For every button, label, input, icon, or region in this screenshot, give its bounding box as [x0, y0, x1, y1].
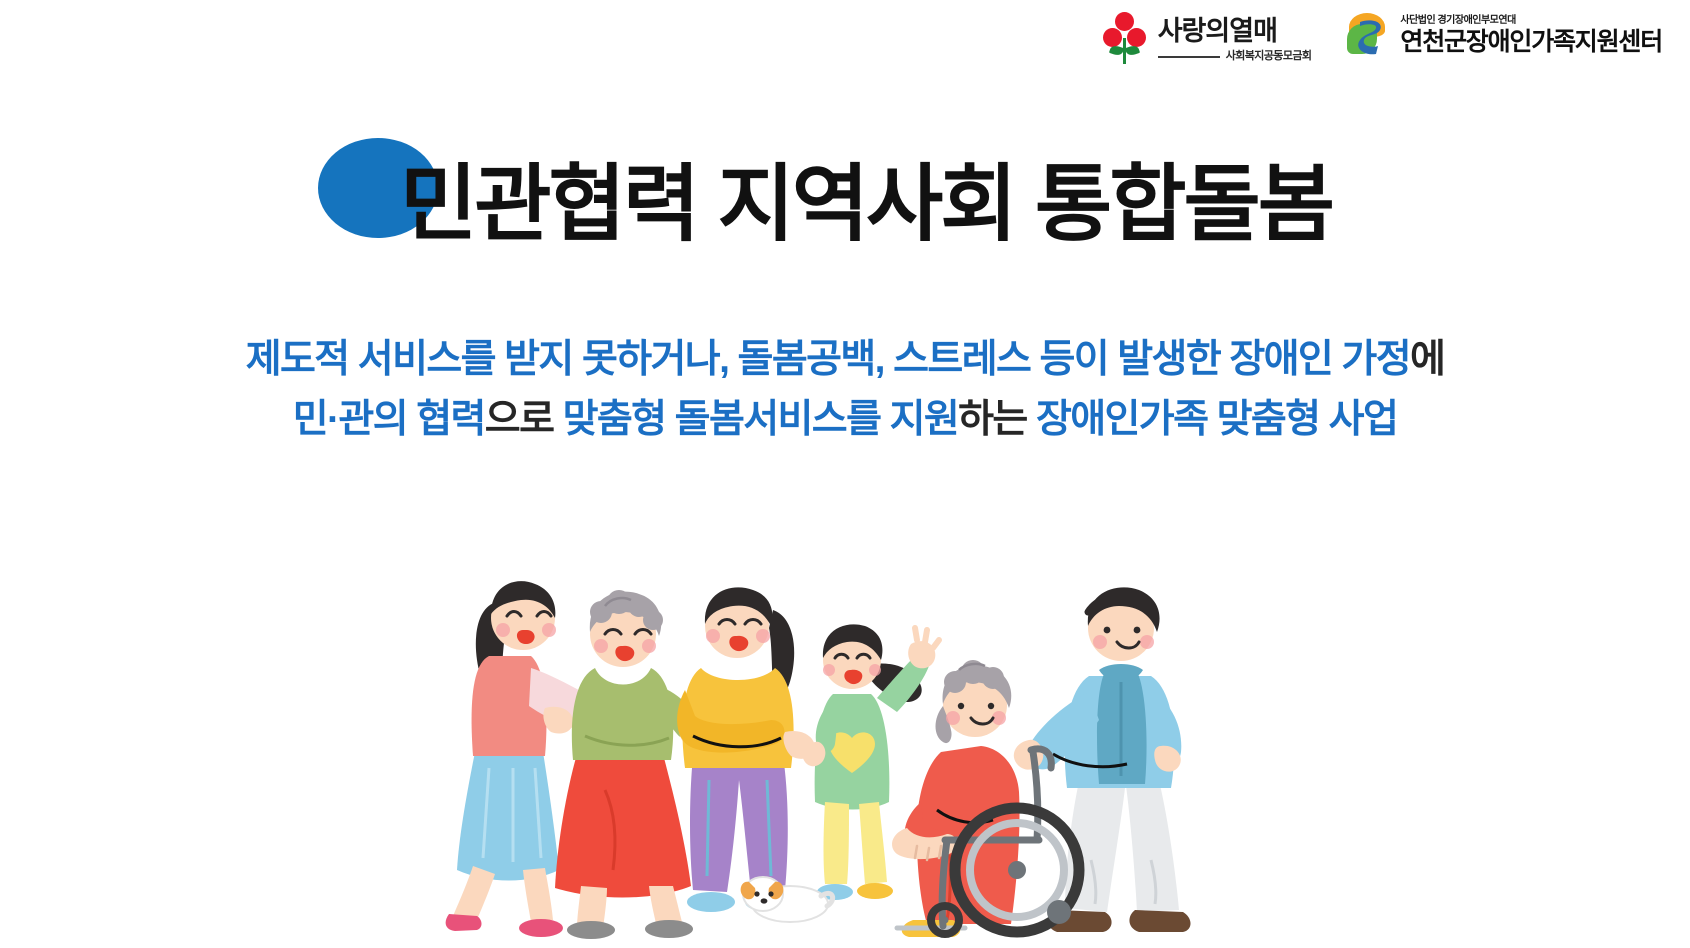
fruit-of-love-icon — [1102, 12, 1148, 68]
subtitle-line-2: 민·관의 협력으로 맞춤형 돌봄서비스를 지원하는 장애인가족 맞춤형 사업 — [0, 390, 1690, 450]
subtitle-run: 하는 — [958, 398, 1036, 441]
family-illustration — [0, 540, 1690, 940]
headline-block: 민관협력 지역사회 통합돌봄 — [0, 138, 1690, 278]
subtitle-block: 제도적 서비스를 받지 못하거나, 돌봄공백, 스트레스 등이 발생한 장애인 … — [0, 330, 1690, 451]
logo-bar: 사랑의열매 사회복지공동모금회 사단법인 경기장애인부모연대 연천군장애인가족지… — [1102, 12, 1662, 68]
subtitle-run: 에 — [1410, 338, 1444, 381]
center-org-line: 사단법인 경기장애인부모연대 — [1400, 16, 1662, 26]
page-title: 민관협력 지역사회 통합돌봄 — [400, 162, 1332, 246]
subtitle-run: 제도적 서비스를 받지 못하거나, 돌봄공백, 스트레스 등이 발생한 장애인 … — [246, 338, 1410, 381]
subtitle-run: 으로 — [485, 398, 563, 441]
community-chest-name: 사랑의열매 — [1158, 18, 1312, 45]
figure-man-blue — [1014, 587, 1191, 932]
figure-puppy — [741, 877, 833, 922]
community-chest-logo: 사랑의열매 사회복지공동모금회 — [1102, 12, 1312, 68]
subtitle-run: 맞춤형 돌봄서비스를 지원 — [563, 398, 959, 441]
logo-divider-rule — [1158, 56, 1220, 58]
figure-elder-woman-standing — [555, 590, 707, 939]
yeoncheon-center-logo: 사단법인 경기장애인부모연대 연천군장애인가족지원센터 — [1347, 12, 1662, 58]
subtitle-line-1: 제도적 서비스를 받지 못하거나, 돌봄공백, 스트레스 등이 발생한 장애인 … — [0, 330, 1690, 390]
subtitle-run: 장애인가족 맞춤형 사업 — [1036, 398, 1397, 441]
community-chest-subtitle: 사회복지공동모금회 — [1226, 51, 1312, 62]
center-emblem-icon — [1347, 12, 1391, 58]
subtitle-run: 민·관의 협력 — [293, 398, 485, 441]
figure-woman-yellow — [677, 587, 815, 912]
center-name: 연천군장애인가족지원센터 — [1400, 30, 1662, 55]
